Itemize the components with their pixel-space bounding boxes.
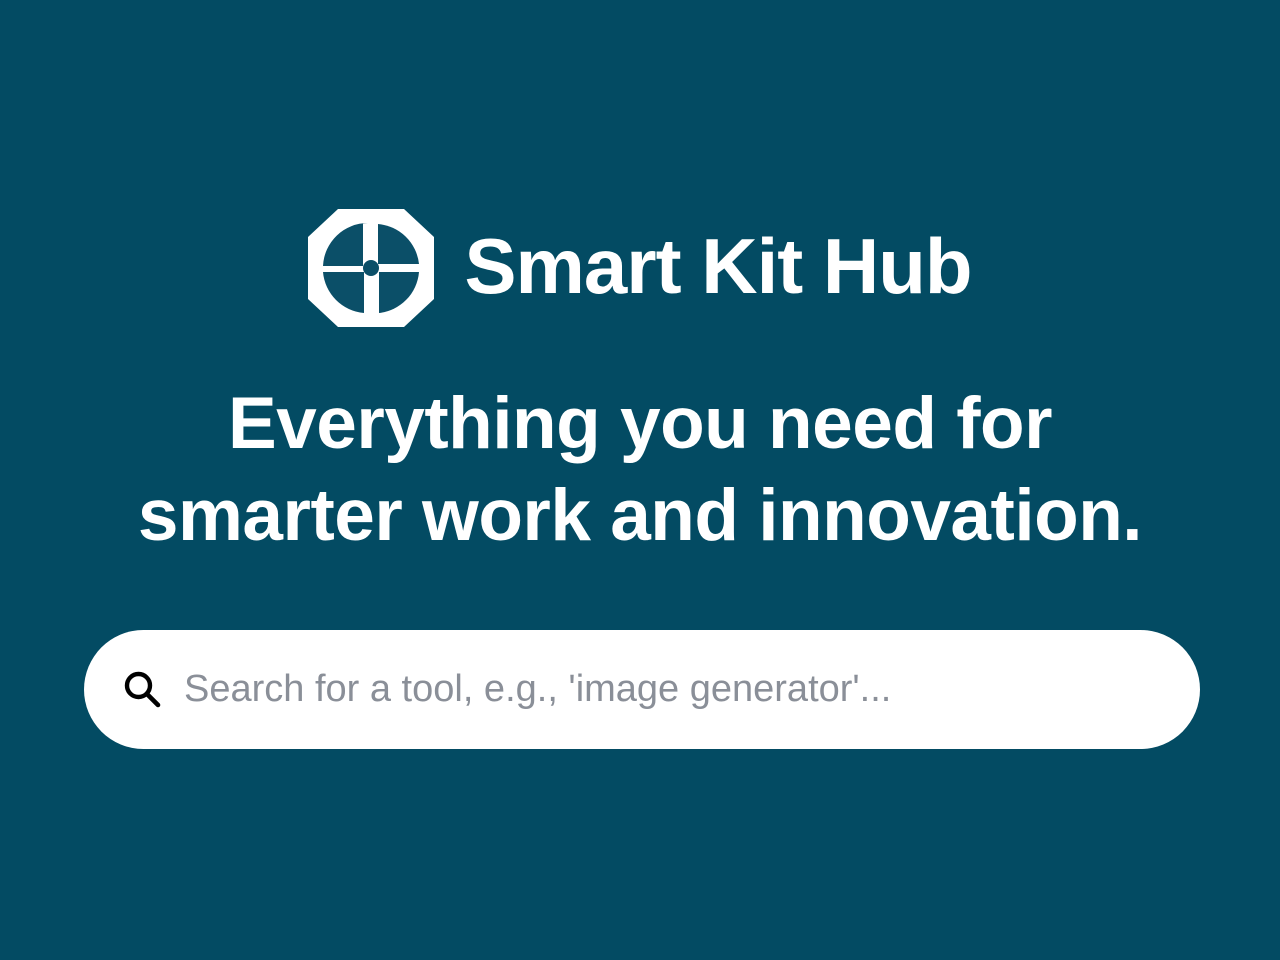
search-bar[interactable]: [84, 630, 1200, 749]
octagon-pinwheel-logo-icon: [308, 209, 434, 327]
brand-name: Smart Kit Hub: [464, 227, 971, 309]
landing-page: Smart Kit Hub Everything you need for sm…: [0, 0, 1280, 960]
page-title: Everything you need for smarter work and…: [40, 378, 1240, 562]
headline-line-1: Everything you need for: [40, 378, 1240, 470]
search-icon[interactable]: [120, 668, 164, 712]
headline-line-2: smarter work and innovation.: [40, 470, 1240, 562]
brand-header: Smart Kit Hub: [0, 206, 1280, 330]
search-input[interactable]: [184, 660, 1160, 720]
